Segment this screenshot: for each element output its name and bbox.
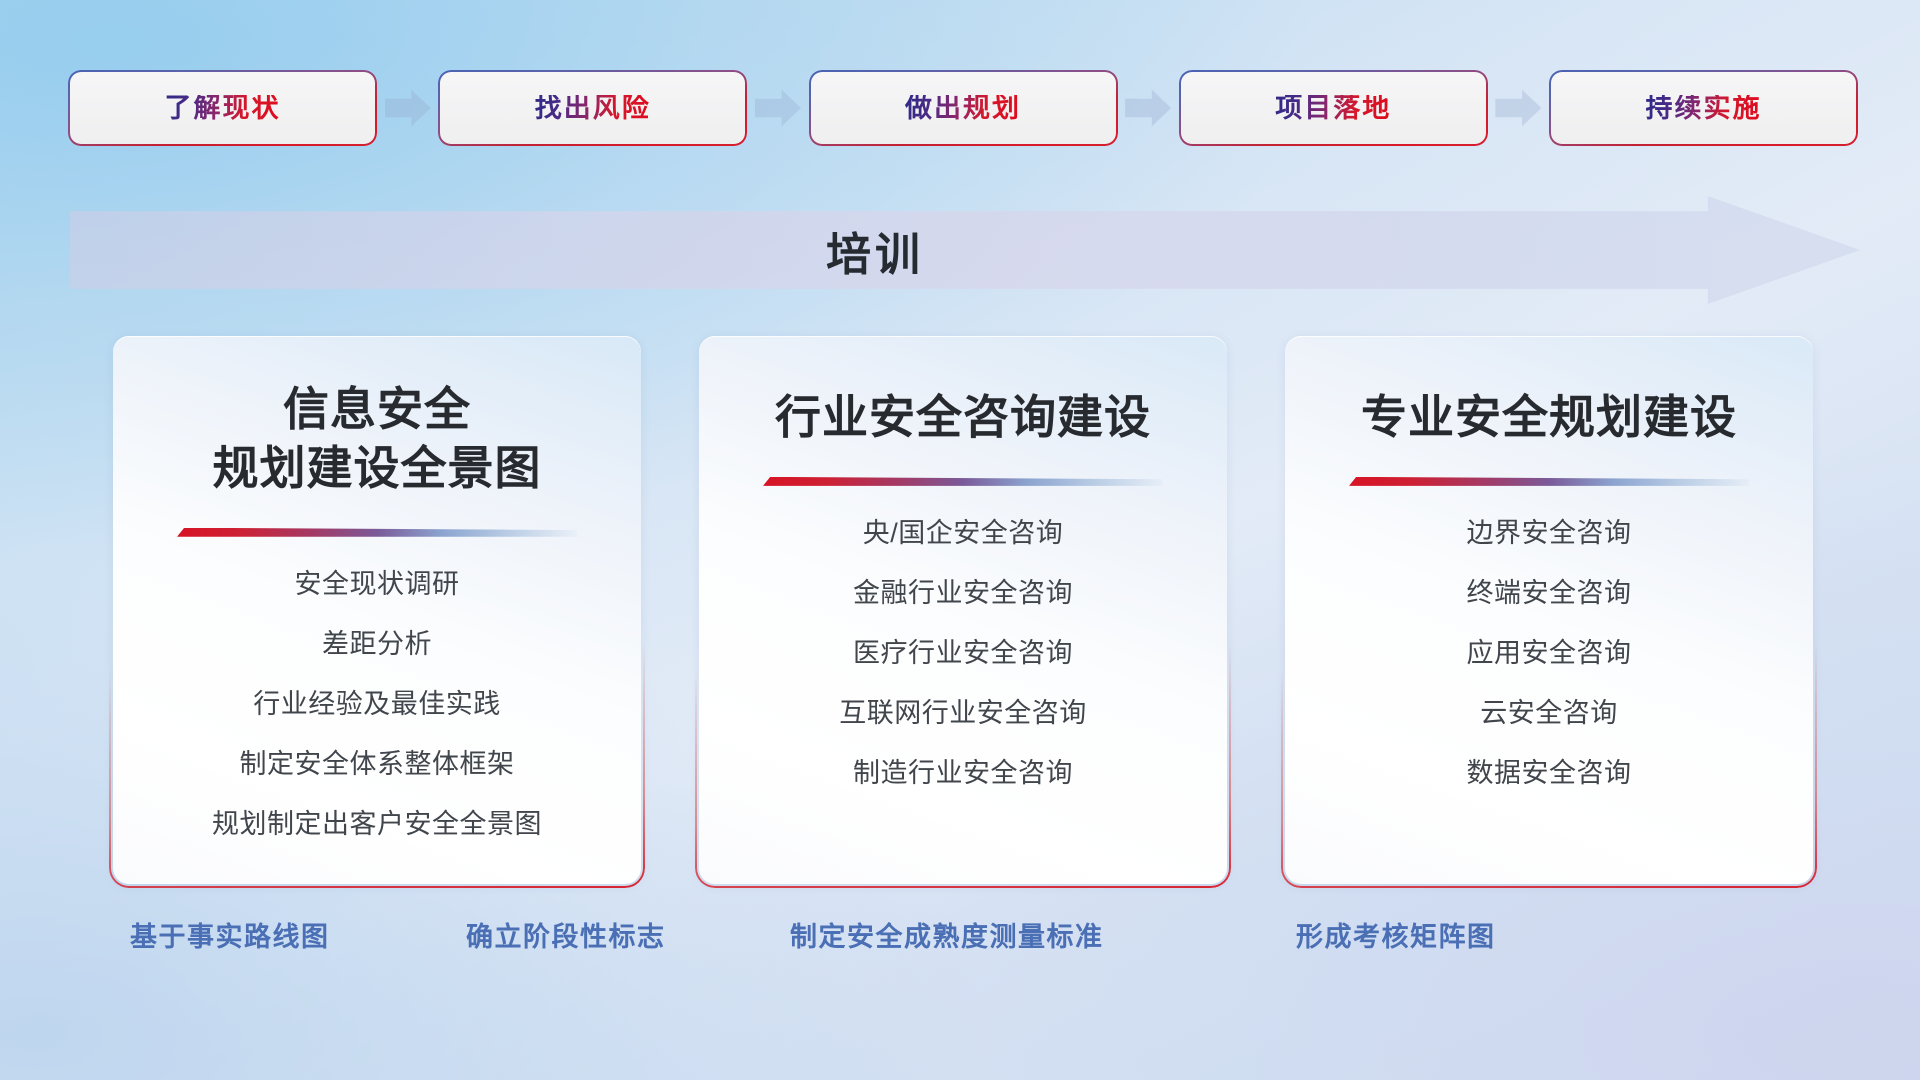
card-title-line-1: 信息安全 — [213, 380, 542, 439]
list-item: 应用安全咨询 — [1285, 640, 1813, 667]
caption-fact-roadmap: 基于事实路线图 — [130, 915, 330, 954]
process-step-5[interactable]: 持续实施 — [1551, 72, 1856, 144]
process-flow-row: 了解现状 找出风险 做出规划 项目落地 持续实施 — [70, 72, 1856, 144]
process-step-label: 了解现状 — [165, 95, 281, 122]
card-title: 信息安全 规划建设全景图 — [189, 380, 566, 498]
list-item: 数据安全咨询 — [1285, 760, 1813, 787]
list-item: 制造行业安全咨询 — [699, 760, 1227, 787]
caption-phase-milestones: 确立阶段性标志 — [466, 915, 666, 954]
card-professional-security-planning[interactable]: 专业安全规划建设 边界安全咨询 终端安全咨询 应用安全咨询 云安全咨询 数据安全… — [1285, 336, 1813, 884]
right-arrow-icon — [385, 88, 431, 128]
card-item-list: 安全现状调研 差距分析 行业经验及最佳实践 制定安全体系整体框架 规划制定出客户… — [113, 571, 641, 838]
right-arrow-icon — [1125, 88, 1171, 128]
card-item-list: 边界安全咨询 终端安全咨询 应用安全咨询 云安全咨询 数据安全咨询 — [1285, 520, 1813, 787]
card-industry-security-consulting[interactable]: 行业安全咨询建设 央/国企安全咨询 金融行业安全咨询 医疗行业安全咨询 互联网行… — [699, 336, 1227, 884]
process-step-label: 找出风险 — [535, 95, 651, 122]
process-step-1[interactable]: 了解现状 — [70, 72, 375, 144]
list-item: 边界安全咨询 — [1285, 520, 1813, 547]
right-arrow-icon — [1495, 88, 1541, 128]
process-step-label: 做出规划 — [905, 95, 1021, 122]
caption-maturity-standard: 制定安全成熟度测量标准 — [790, 915, 1104, 954]
list-item: 医疗行业安全咨询 — [699, 640, 1227, 667]
slide-canvas: 了解现状 找出风险 做出规划 项目落地 持续实施 培训 信息安全 规划建设全景图 — [0, 0, 1920, 1080]
list-item: 差距分析 — [113, 631, 641, 658]
card-divider — [1349, 477, 1749, 486]
list-item: 行业经验及最佳实践 — [113, 691, 641, 718]
list-item: 云安全咨询 — [1285, 700, 1813, 727]
training-banner-label: 培训 — [70, 196, 1860, 304]
card-title: 专业安全规划建设 — [1337, 388, 1761, 447]
training-banner: 培训 — [70, 196, 1860, 304]
process-step-label: 项目落地 — [1275, 95, 1391, 122]
process-step-2[interactable]: 找出风险 — [440, 72, 745, 144]
process-step-label: 持续实施 — [1646, 95, 1762, 122]
list-item: 央/国企安全咨询 — [699, 520, 1227, 547]
caption-assessment-matrix: 形成考核矩阵图 — [1296, 915, 1496, 954]
card-divider — [763, 477, 1163, 486]
list-item: 制定安全体系整体框架 — [113, 751, 641, 778]
list-item: 互联网行业安全咨询 — [699, 700, 1227, 727]
process-step-3[interactable]: 做出规划 — [811, 72, 1116, 144]
card-group: 信息安全 规划建设全景图 安全现状调研 差距分析 行业经验及最佳实践 制定安全体… — [113, 336, 1813, 884]
right-arrow-icon — [755, 88, 801, 128]
caption-row: 基于事实路线图 确立阶段性标志 制定安全成熟度测量标准 形成考核矩阵图 — [0, 915, 1920, 961]
card-item-list: 央/国企安全咨询 金融行业安全咨询 医疗行业安全咨询 互联网行业安全咨询 制造行… — [699, 520, 1227, 787]
card-information-security-blueprint[interactable]: 信息安全 规划建设全景图 安全现状调研 差距分析 行业经验及最佳实践 制定安全体… — [113, 336, 641, 884]
list-item: 安全现状调研 — [113, 571, 641, 598]
card-divider — [177, 528, 577, 537]
card-title: 行业安全咨询建设 — [751, 388, 1175, 447]
list-item: 终端安全咨询 — [1285, 580, 1813, 607]
list-item: 金融行业安全咨询 — [699, 580, 1227, 607]
card-title-line-2: 规划建设全景图 — [213, 439, 542, 498]
list-item: 规划制定出客户安全全景图 — [113, 811, 641, 838]
process-step-4[interactable]: 项目落地 — [1181, 72, 1486, 144]
